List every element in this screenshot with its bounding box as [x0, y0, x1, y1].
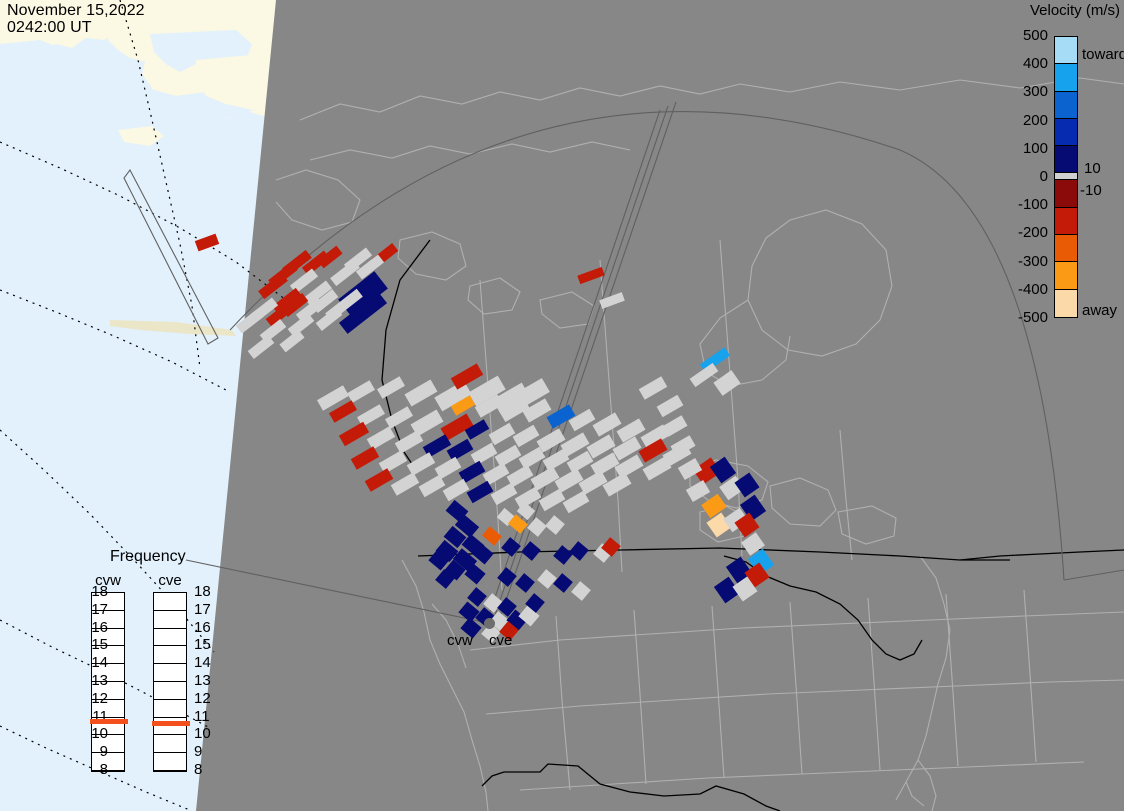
frequency-scale-label: 14: [82, 654, 108, 671]
colorbar-segment: [1055, 235, 1077, 262]
colorbar-tick: 300: [1000, 83, 1048, 100]
frequency-scale-label: 9: [82, 743, 108, 760]
colorbar-segment: [1055, 262, 1077, 289]
colorbar-tick: 100: [1000, 140, 1048, 157]
colorbar-title: Velocity (m/s): [1030, 2, 1120, 19]
colorbar-segment: [1055, 37, 1077, 64]
frequency-scale-label: 14: [194, 654, 220, 671]
timestamp-label: November 15,2022 0242:00 UT: [7, 2, 145, 36]
frequency-bar-cve: [153, 592, 187, 772]
frequency-bar-row: [154, 735, 186, 753]
colorbar-segment: [1055, 119, 1077, 146]
colorbar-pos-threshold-label: 10: [1084, 160, 1101, 177]
colorbar-segment: [1055, 208, 1077, 235]
colorbar-neg-threshold-label: -10: [1080, 182, 1102, 199]
frequency-scale-label: 16: [82, 619, 108, 636]
colorbar-segment: [1055, 92, 1077, 119]
colorbar-tick: -100: [1000, 196, 1048, 213]
colorbar-tick: 200: [1000, 112, 1048, 129]
colorbar-segment: [1055, 290, 1077, 317]
frequency-scale-label: 17: [82, 601, 108, 618]
colorbar-tick: 0: [1000, 168, 1048, 185]
frequency-scale-label: 18: [82, 583, 108, 600]
frequency-scale-label: 15: [194, 636, 220, 653]
frequency-scale-label: 10: [194, 725, 220, 742]
frequency-scale-label: 12: [82, 690, 108, 707]
colorbar-tick: -300: [1000, 253, 1048, 270]
frequency-scale-label: 17: [194, 601, 220, 618]
radar-site-label-cvw: cvw: [447, 632, 473, 649]
frequency-bar-row: [154, 753, 186, 771]
colorbar-toward-label: toward: [1082, 46, 1124, 63]
colorbar-segment: [1055, 64, 1077, 91]
colorbar-tick: 400: [1000, 55, 1048, 72]
frequency-scale-label: 9: [194, 743, 220, 760]
frequency-scale-label: 18: [194, 583, 220, 600]
frequency-scale-label: 8: [82, 761, 108, 778]
frequency-bar-row: [154, 646, 186, 664]
frequency-scale-label: 10: [82, 725, 108, 742]
frequency-bar-label-cve: cve: [150, 572, 190, 589]
colorbar-segment: [1055, 173, 1077, 180]
frequency-bar-row: [154, 593, 186, 611]
frequency-scale-label: 12: [194, 690, 220, 707]
frequency-bar-row: [154, 682, 186, 700]
frequency-panel-title: Frequency: [110, 548, 186, 566]
frequency-scale-label: 13: [82, 672, 108, 689]
frequency-bar-row: [154, 700, 186, 718]
frequency-scale-label: 13: [194, 672, 220, 689]
frequency-scale-label: 11: [194, 708, 220, 725]
frequency-marker-cve: [152, 721, 190, 726]
velocity-colorbar: [1054, 36, 1078, 318]
colorbar-tick: -400: [1000, 281, 1048, 298]
frequency-marker-cvw: [90, 719, 128, 724]
colorbar-tick: -200: [1000, 224, 1048, 241]
frequency-scale-label: 16: [194, 619, 220, 636]
colorbar-segment: [1055, 146, 1077, 173]
frequency-bar-row: [154, 611, 186, 629]
colorbar-segment: [1055, 180, 1077, 207]
frequency-bar-row: [154, 664, 186, 682]
frequency-scale-label: 8: [194, 761, 220, 778]
frequency-bar-row: [154, 629, 186, 647]
radar-site-label-cve: cve: [489, 632, 512, 649]
colorbar-tick: -500: [1000, 309, 1048, 326]
superdarn-map-view: cvw cve November 15,2022 0242:00 UT Velo…: [0, 0, 1124, 811]
radar-site-marker: [484, 618, 495, 629]
frequency-scale-label: 15: [82, 636, 108, 653]
colorbar-away-label: away: [1082, 302, 1117, 319]
colorbar-tick: 500: [1000, 27, 1048, 44]
